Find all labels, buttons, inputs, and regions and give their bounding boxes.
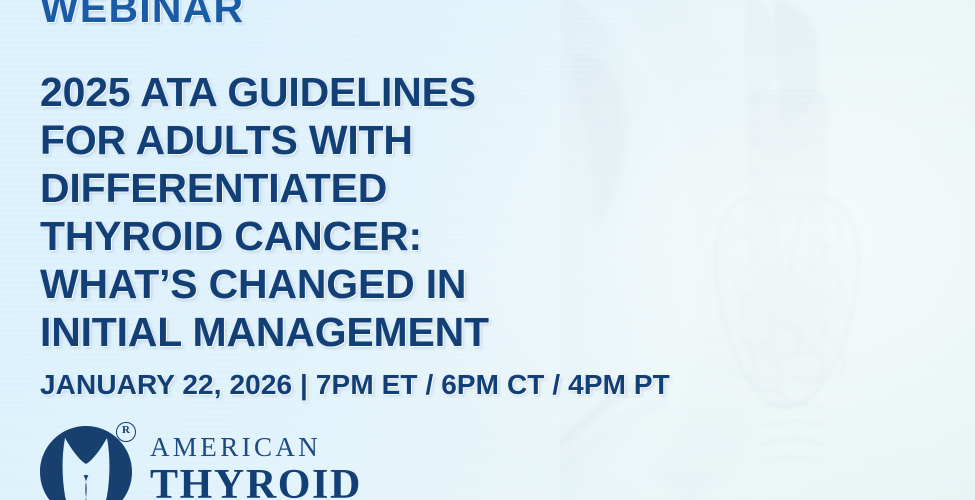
logo-word-thyroid: THYROID: [150, 462, 362, 500]
headline-line: WHAT’S CHANGED IN: [40, 260, 640, 308]
logo-word-american: AMERICAN: [150, 432, 362, 462]
headline-line: THYROID CANCER:: [40, 212, 640, 260]
poster-content: WEBINAR 2025 ATA GUIDELINES FOR ADULTS W…: [0, 0, 975, 500]
event-date-time: JANUARY 22, 2026 | 7PM ET / 6PM CT / 4PM…: [40, 369, 670, 401]
registered-trademark-icon: R: [116, 422, 136, 442]
headline-line: 2025 ATA GUIDELINES: [40, 68, 640, 116]
thyroid-gland-circle-icon: R: [38, 424, 134, 500]
headline-line: FOR ADULTS WITH: [40, 116, 640, 164]
headline-line: INITIAL MANAGEMENT: [40, 308, 640, 356]
page-title: 2025 ATA GUIDELINES FOR ADULTS WITH DIFF…: [40, 68, 640, 356]
webinar-promo-poster: WEBINAR 2025 ATA GUIDELINES FOR ADULTS W…: [0, 0, 975, 500]
headline-line: DIFFERENTIATED: [40, 164, 640, 212]
kicker-webinar-label: WEBINAR: [40, 0, 244, 29]
logo-wordmark: AMERICAN THYROID: [150, 424, 362, 500]
american-thyroid-association-logo: R AMERICAN THYROID: [38, 424, 362, 500]
